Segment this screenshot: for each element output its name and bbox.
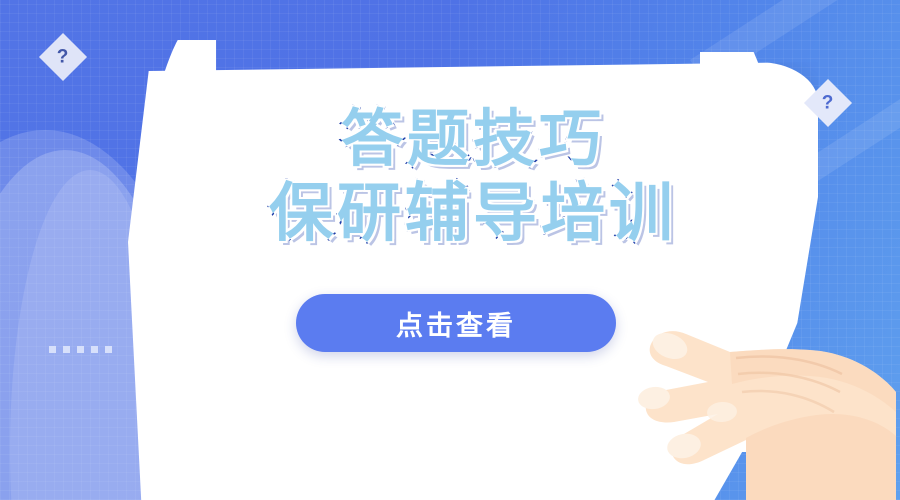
- dot-1: [49, 346, 56, 353]
- question-mark-left: ?: [57, 47, 69, 66]
- dot-3: [77, 346, 84, 353]
- view-details-button[interactable]: 点击查看: [296, 294, 616, 352]
- view-details-button-label: 点击查看: [396, 304, 516, 343]
- question-mark-right: ?: [822, 93, 834, 112]
- promo-banner: ? ? 答题技巧 保研辅导培训 点击查看: [0, 0, 900, 500]
- dot-row-decoration: [49, 346, 112, 353]
- dot-5: [105, 346, 112, 353]
- question-diamond-icon-left: ?: [39, 33, 87, 81]
- pointing-hand-icon: [596, 300, 900, 500]
- dot-2: [63, 346, 70, 353]
- dot-4: [91, 346, 98, 353]
